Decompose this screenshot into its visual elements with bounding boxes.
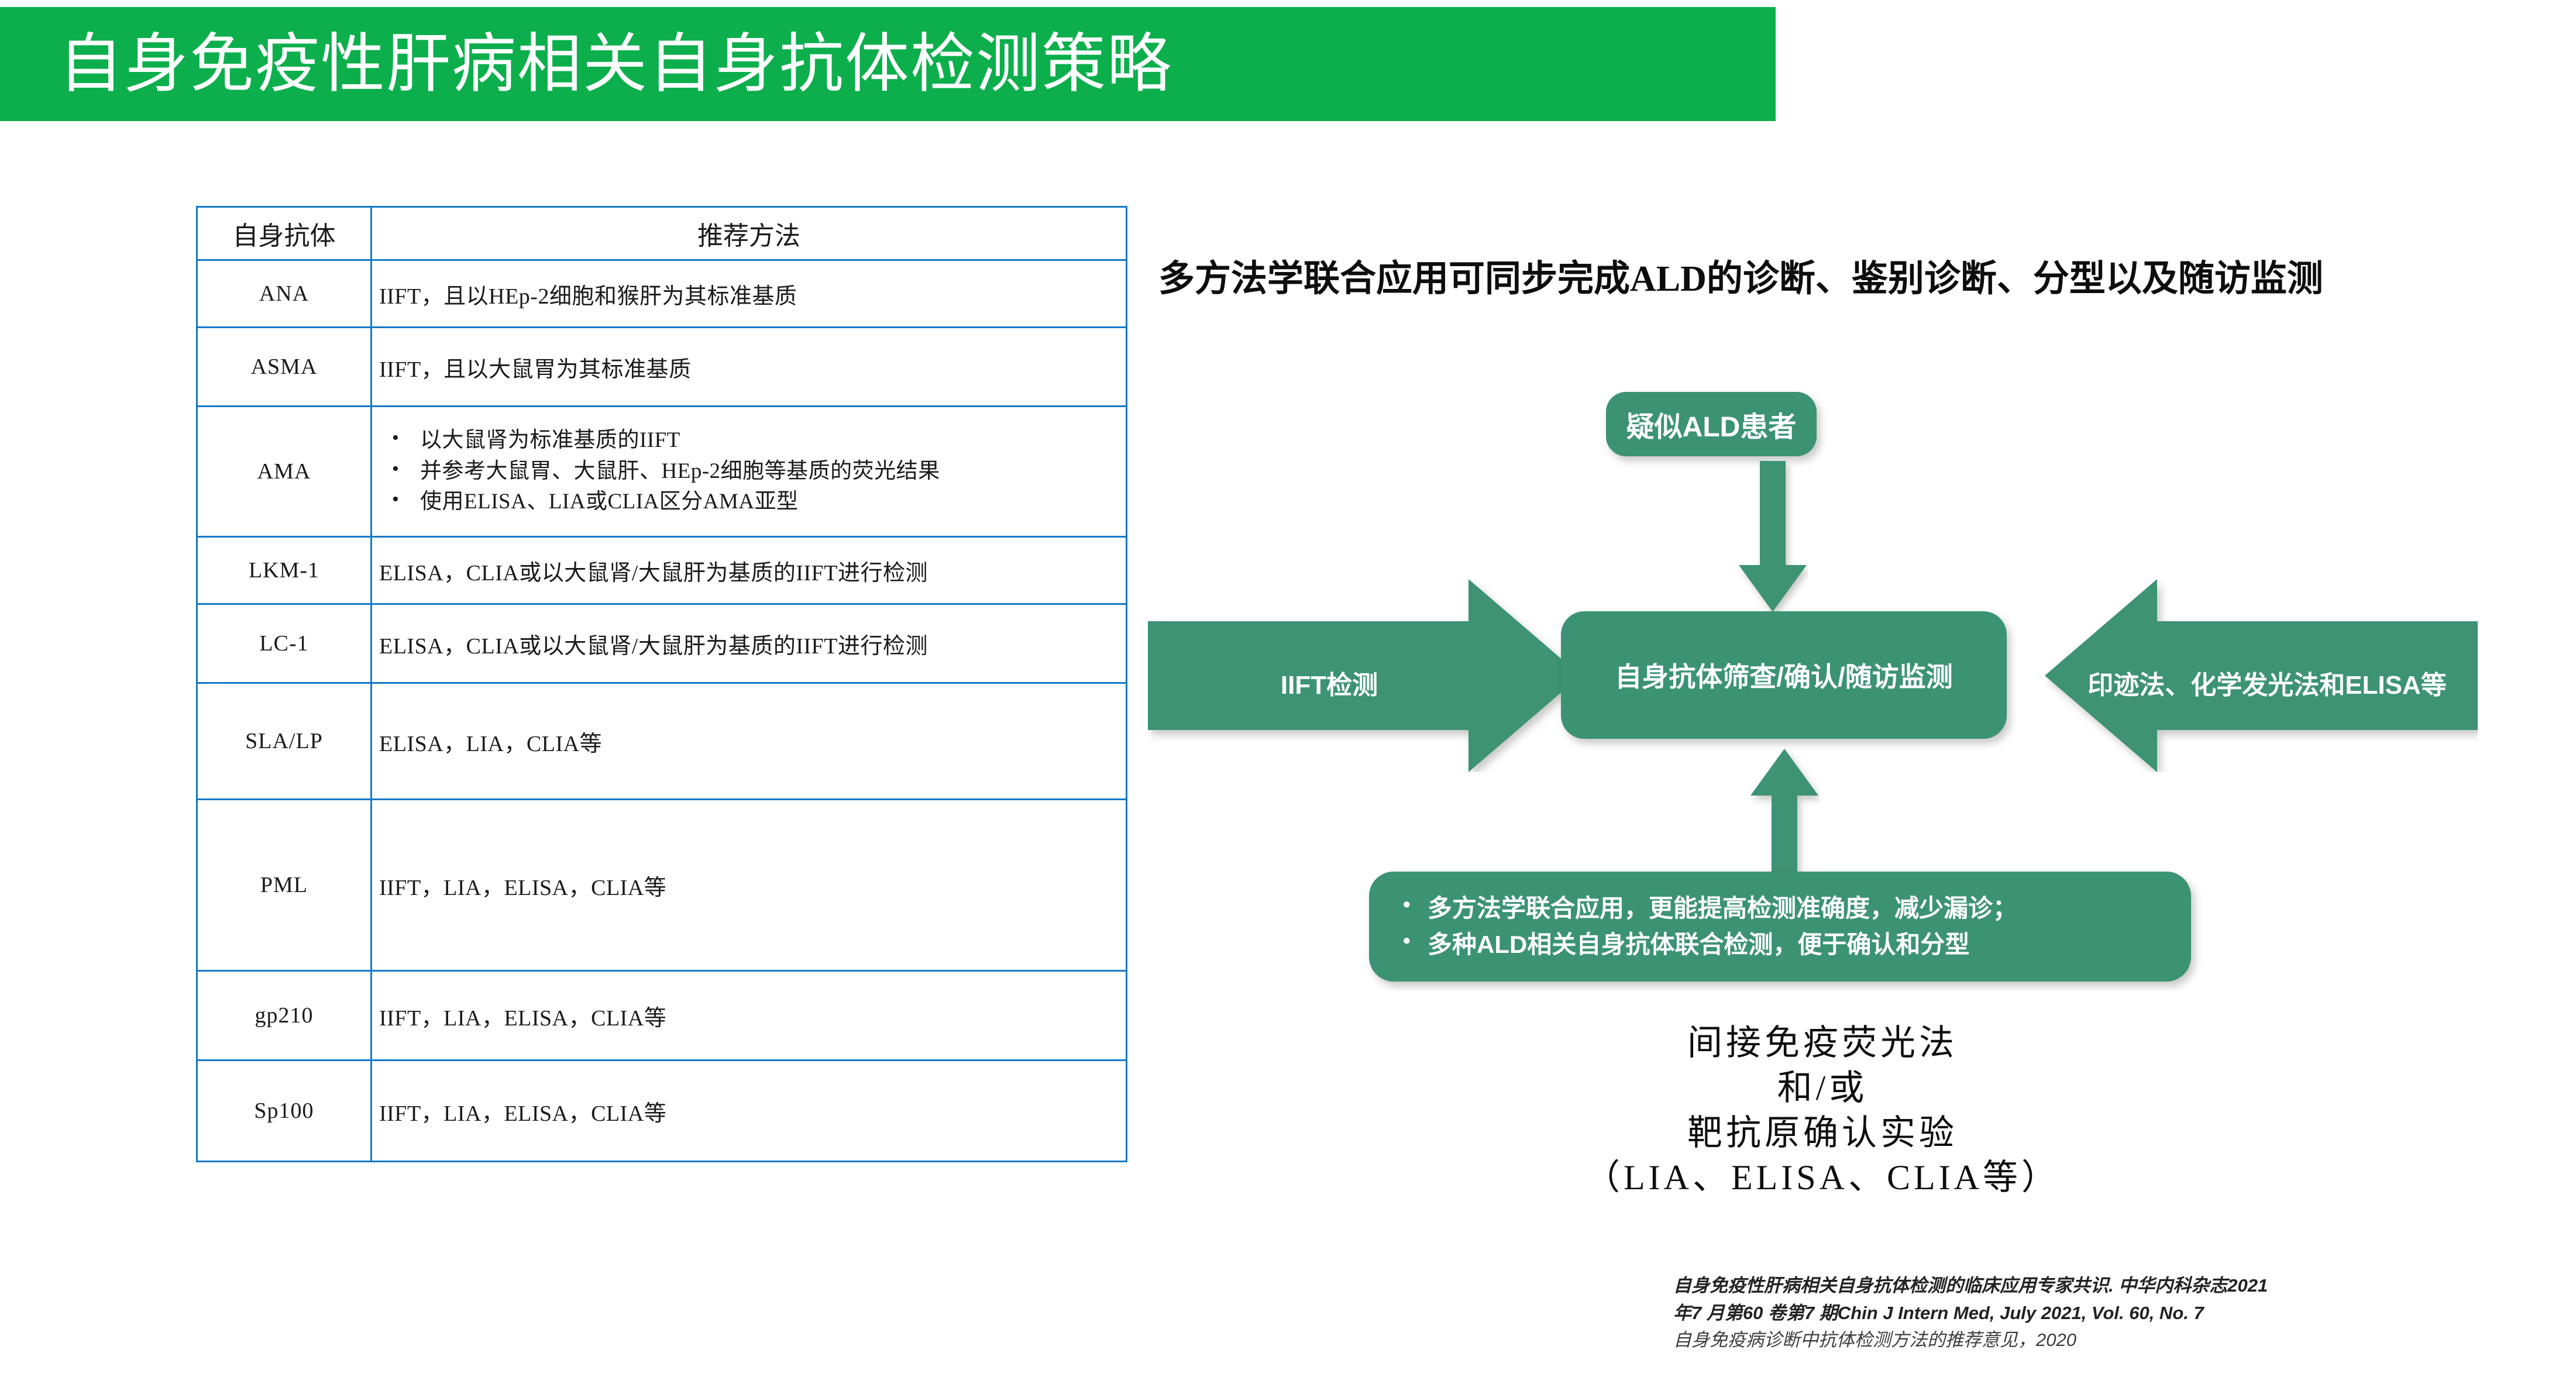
cell-method: IIFT，且以HEp-2细胞和猴肝为其标准基质 [372,260,1127,328]
cell-method: IIFT，LIA，ELISA，CLIA等 [372,800,1127,971]
cell-antibody-name: ASMA [197,328,372,407]
cell-method: IIFT，LIA，ELISA，CLIA等 [372,1061,1127,1162]
citation-block: 自身免疫性肝病相关自身抗体检测的临床应用专家共识. 中华内科杂志2021 年7 … [1673,1272,2563,1354]
method-bullet-item: 使用ELISA、LIA或CLIA区分AMA亚型 [388,487,1119,518]
citation-line: 自身免疫病诊断中抗体检测方法的推荐意见，2020 [1673,1327,2563,1354]
diagram-box-suspect-ald: 疑似ALD患者 [1606,392,1817,456]
summary-line: 间接免疫荧光法 [1398,1021,2247,1066]
arrow-down-icon [1738,461,1808,613]
table-row: PML IIFT，LIA，ELISA，CLIA等 [197,800,1127,971]
method-bullet-item: 并参考大鼠胃、大鼠肝、HEp-2细胞等基质的荧光结果 [388,456,1119,487]
cell-antibody-name: PML [197,800,372,971]
page-title: 自身免疫性肝病相关自身抗体检测策略 [0,32,1172,97]
summary-text-block: 间接免疫荧光法 和/或 靶抗原确认实验 （LIA、ELISA、CLIA等） [1398,1021,2247,1200]
cell-antibody-name: LKM-1 [197,537,372,604]
cell-antibody-name: ANA [197,260,372,328]
summary-line: 靶抗原确认实验 [1398,1111,2247,1156]
diagram-box-key-points: 多方法学联合应用，更能提高检测准确度，减少漏诊； 多种ALD相关自身抗体联合检测… [1369,872,2191,982]
cell-method: ELISA，LIA，CLIA等 [372,683,1127,800]
table-row: gp210 IIFT，LIA，ELISA，CLIA等 [197,971,1127,1061]
antibody-table-container: 自身抗体 推荐方法 ANA IIFT，且以HEp-2细胞和猴肝为其标准基质 AS… [196,206,1127,1162]
table-row: LC-1 ELISA，CLIA或以大鼠肾/大鼠肝为基质的IIFT进行检测 [197,604,1127,683]
citation-line: 年7 月第60 卷第7 期Chin J Intern Med, July 202… [1673,1300,2563,1327]
key-points-list: 多方法学联合应用，更能提高检测准确度，减少漏诊； 多种ALD相关自身抗体联合检测… [1399,890,2017,963]
cell-method: ELISA，CLIA或以大鼠肾/大鼠肝为基质的IIFT进行检测 [372,604,1127,683]
table-row: SLA/LP ELISA，LIA，CLIA等 [197,683,1127,800]
table-row: Sp100 IIFT，LIA，ELISA，CLIA等 [197,1061,1127,1162]
method-bullet-list: 以大鼠肾为标准基质的IIFT 并参考大鼠胃、大鼠肝、HEp-2细胞等基质的荧光结… [379,425,1119,518]
cell-antibody-name: Sp100 [197,1061,372,1162]
table-row: ANA IIFT，且以HEp-2细胞和猴肝为其标准基质 [197,260,1127,328]
cell-antibody-name: AMA [197,407,372,537]
key-point-item: 多种ALD相关自身抗体联合检测，便于确认和分型 [1399,927,2017,963]
table-row: LKM-1 ELISA，CLIA或以大鼠肾/大鼠肝为基质的IIFT进行检测 [197,537,1127,604]
cell-method: IIFT，LIA，ELISA，CLIA等 [372,971,1127,1061]
cell-antibody-name: gp210 [197,971,372,1061]
column-header-antibody: 自身抗体 [197,207,372,260]
column-header-method: 推荐方法 [372,207,1127,260]
arrow-up-icon [1749,749,1820,875]
right-headline: 多方法学联合应用可同步完成ALD的诊断、鉴别诊断、分型以及随访监测 [1158,249,2563,301]
table-row: AMA 以大鼠肾为标准基质的IIFT 并参考大鼠胃、大鼠肝、HEp-2细胞等基质… [197,407,1127,537]
workflow-diagram: 疑似ALD患者 [1141,374,2576,994]
cell-antibody-name: SLA/LP [197,683,372,800]
summary-line: 和/或 [1398,1066,2247,1111]
diagram-box-autoantibody-screening: 自身抗体筛查/确认/随访监测 [1561,611,2007,739]
cell-method: ELISA，CLIA或以大鼠肾/大鼠肝为基质的IIFT进行检测 [372,537,1127,604]
table-header-row: 自身抗体 推荐方法 [197,207,1127,260]
citation-line: 自身免疫性肝病相关自身抗体检测的临床应用专家共识. 中华内科杂志2021 [1673,1272,2563,1300]
cell-method-bulleted: 以大鼠肾为标准基质的IIFT 并参考大鼠胃、大鼠肝、HEp-2细胞等基质的荧光结… [372,407,1127,537]
cell-antibody-name: LC-1 [197,604,372,683]
right-panel: 多方法学联合应用可同步完成ALD的诊断、鉴别诊断、分型以及随访监测 疑似ALD患… [1141,0,2576,1384]
cell-method: IIFT，且以大鼠胃为其标准基质 [372,328,1127,407]
method-bullet-item: 以大鼠肾为标准基质的IIFT [388,425,1119,456]
key-point-item: 多方法学联合应用，更能提高检测准确度，减少漏诊； [1399,890,2017,927]
summary-line: （LIA、ELISA、CLIA等） [1398,1155,2247,1200]
arrow-label-iift: IIFT检测 [1148,664,1511,701]
table-row: ASMA IIFT，且以大鼠胃为其标准基质 [197,328,1127,407]
antibody-method-table: 自身抗体 推荐方法 ANA IIFT，且以HEp-2细胞和猴肝为其标准基质 AS… [196,206,1127,1162]
arrow-label-blot-methods: 印迹法、化学发光法和ELISA等 [2062,664,2472,701]
